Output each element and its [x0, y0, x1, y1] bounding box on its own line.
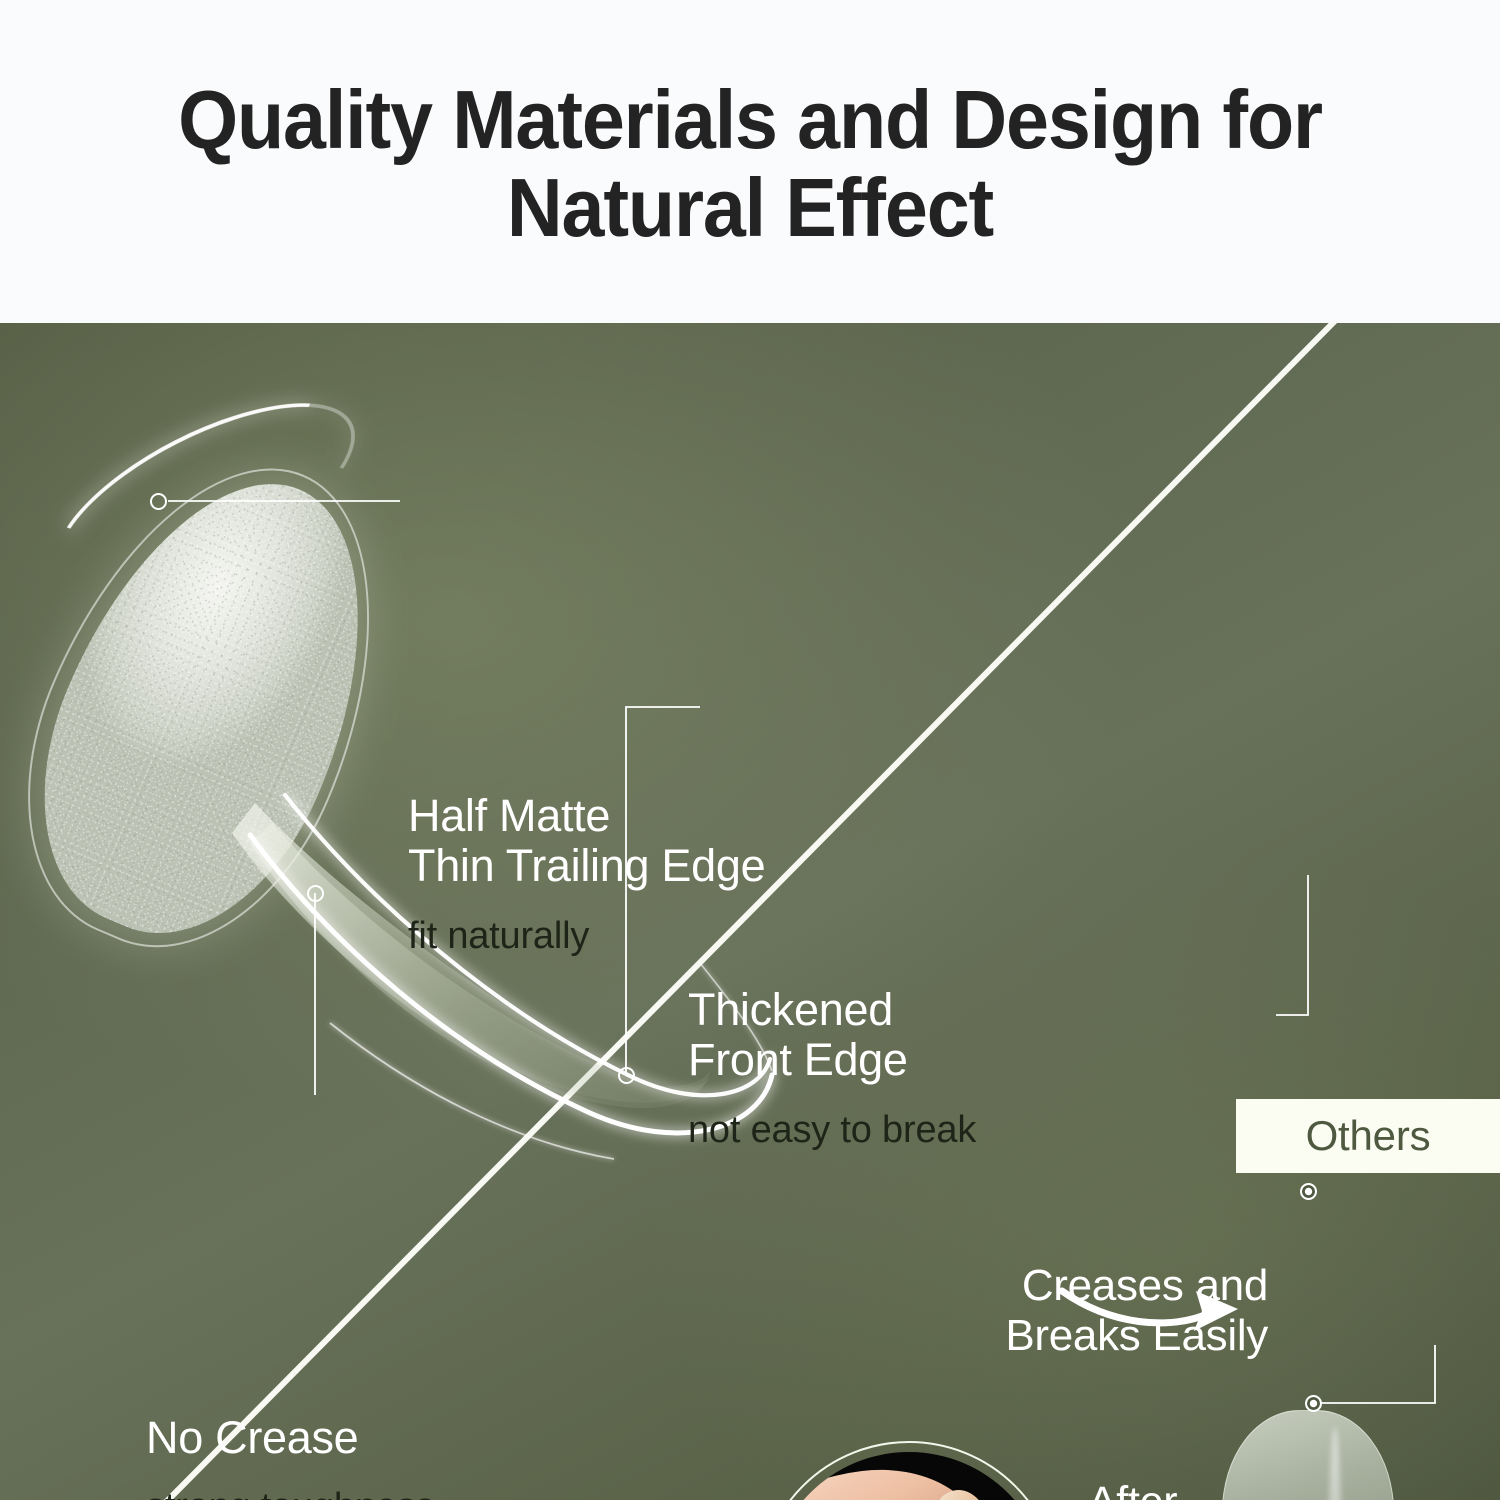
bend-demo-photo: [758, 1441, 1060, 1500]
others-badge-label: Others: [1306, 1112, 1431, 1160]
connector-abs: [1313, 1345, 1435, 1403]
marker-thickened-edge: [618, 1067, 635, 1084]
annotation-after-bend: After Bend: [1078, 1478, 1177, 1500]
annotation-thickened-front-edge: Thickened Front Edge not easy to break: [688, 985, 976, 1153]
marker-abs: [1305, 1395, 1322, 1412]
annotation-title: Creases and Breaks Easily: [1005, 1261, 1268, 1361]
fingernail-top: [928, 1482, 994, 1500]
abs-nail-tip: [1222, 1410, 1394, 1500]
photo-inner: [769, 1452, 1049, 1500]
modelones-nail-product: [30, 433, 490, 1073]
connector-creases-breaks: [1276, 875, 1308, 1015]
marker-half-matte: [150, 493, 167, 510]
annotation-title: No Crease: [146, 1413, 434, 1463]
annotation-title: Half Matte Thin Trailing Edge: [408, 791, 765, 892]
marker-no-crease: [307, 885, 324, 902]
annotation-subtitle: fit naturally: [408, 914, 765, 960]
page-title: Quality Materials and Design for Natural…: [53, 72, 1448, 252]
annotation-title: After Bend: [1078, 1478, 1177, 1500]
header-banner: Quality Materials and Design for Natural…: [0, 0, 1500, 323]
marker-creases-breaks: [1300, 1183, 1317, 1200]
infographic-page: Quality Materials and Design for Natural…: [0, 0, 1500, 1500]
annotation-subtitle: strong toughness: [146, 1485, 434, 1500]
annotation-subtitle: not easy to break: [688, 1108, 976, 1154]
comparison-canvas: Half Matte Thin Trailing Edge fit natura…: [0, 323, 1500, 1500]
annotation-creases-breaks-easily: Creases and Breaks Easily: [1005, 1261, 1268, 1361]
brand-badge-others: Others: [1236, 1099, 1500, 1173]
annotation-title: Thickened Front Edge: [688, 985, 976, 1086]
annotation-half-matte: Half Matte Thin Trailing Edge fit natura…: [408, 791, 765, 959]
finger-top: [769, 1457, 990, 1500]
abs-highlight: [1328, 1427, 1342, 1500]
annotation-no-crease: No Crease strong toughness: [146, 1413, 434, 1500]
